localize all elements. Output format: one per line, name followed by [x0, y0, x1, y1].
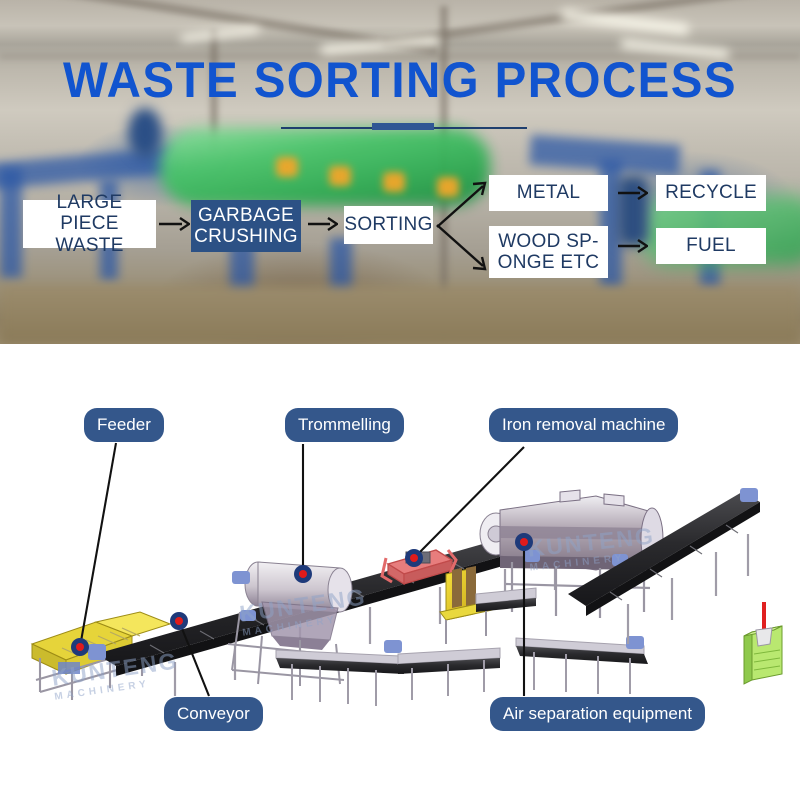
callout-air-separation-equipment[interactable]: Air separation equipment	[490, 697, 705, 731]
flow-node-line1: WOOD SP-	[498, 231, 599, 252]
baler-machine	[744, 602, 782, 684]
flow-node-large-piece-waste[interactable]: LARGE PIECE WASTE	[23, 200, 156, 248]
photo-banner: WASTE SORTING PROCESS LARGE PIECE WASTE …	[0, 0, 800, 344]
arrow-sorting-to-wood	[435, 222, 491, 272]
title-divider-accent	[372, 123, 434, 130]
flow-node-recycle[interactable]: RECYCLE	[656, 175, 766, 211]
factory-floor	[0, 286, 800, 344]
marker-feeder[interactable]	[71, 638, 89, 656]
flow-node-line2: PIECE WASTE	[27, 213, 152, 256]
marker-iron-removal[interactable]	[405, 549, 423, 567]
flow-node-line2: ONGE ETC	[498, 252, 600, 273]
discharge-conveyor-mid	[384, 640, 500, 700]
marker-trommelling[interactable]	[294, 565, 312, 583]
flow-node-line2: CRUSHING	[194, 226, 298, 247]
flow-node-wood-sponge-etc[interactable]: WOOD SP- ONGE ETC	[489, 226, 608, 278]
flow-node-garbage-crushing[interactable]: GARBAGE CRUSHING	[191, 200, 301, 252]
marker-air-separation[interactable]	[515, 533, 533, 551]
trommel-panel	[329, 166, 351, 186]
marker-conveyor[interactable]	[170, 612, 188, 630]
discharge-conveyor-right	[516, 636, 648, 694]
trommel-panel	[276, 157, 298, 177]
page-title: WASTE SORTING PROCESS	[20, 55, 780, 105]
arrow-wood-to-fuel	[617, 238, 648, 254]
flow-node-line1: GARBAGE	[198, 205, 294, 226]
flow-node-fuel[interactable]: FUEL	[656, 228, 766, 264]
callout-iron-removal-machine[interactable]: Iron removal machine	[489, 408, 678, 442]
blue-machine-left-frame	[0, 168, 22, 278]
production-line-diagram: KUNTENG MACHINERY KUNTENG MACHINERY KUNT…	[0, 344, 800, 800]
flow-node-line1: FUEL	[686, 235, 736, 256]
flow-node-line1: METAL	[517, 182, 580, 203]
flow-node-line1: LARGE	[57, 192, 123, 213]
flow-node-line1: SORTING	[344, 214, 432, 235]
arrow-crushing-to-sorting	[307, 216, 338, 232]
worker-figure	[128, 108, 162, 158]
flow-node-line1: RECYCLE	[665, 182, 757, 203]
waste-sorting-process-infographic: WASTE SORTING PROCESS LARGE PIECE WASTE …	[0, 0, 800, 800]
arrow-waste-to-crushing	[158, 216, 190, 232]
flow-node-sorting[interactable]: SORTING	[344, 206, 433, 244]
callout-conveyor[interactable]: Conveyor	[164, 697, 263, 731]
callout-feeder[interactable]: Feeder	[84, 408, 164, 442]
leader-feeder	[80, 443, 116, 647]
flow-node-metal[interactable]: METAL	[489, 175, 608, 211]
arrow-metal-to-recycle	[617, 185, 648, 201]
callout-trommelling[interactable]: Trommelling	[285, 408, 404, 442]
trommel-panel	[383, 172, 405, 192]
